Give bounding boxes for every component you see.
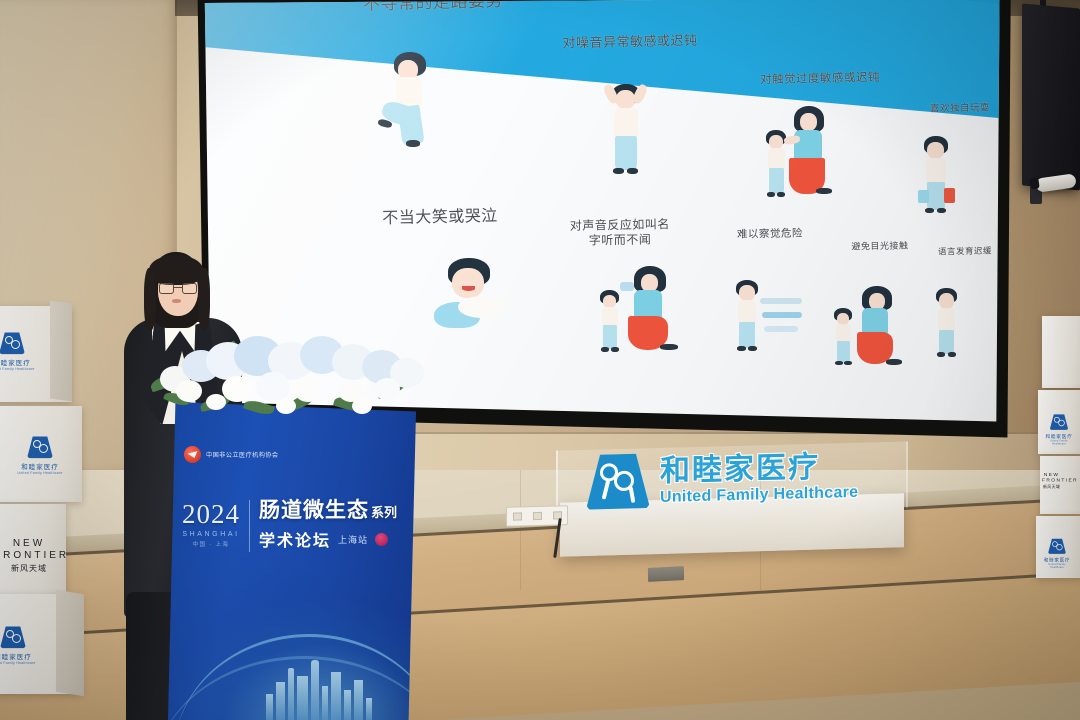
glasses-icon <box>159 283 197 294</box>
box-logo-cn: 和睦家医疗 <box>0 651 42 661</box>
united-family-healthcare-sign: 和睦家医疗 United Family Healthcare <box>586 442 886 516</box>
forum-banner: 2024 SHANGHAI 中国 · 上海 肠道微生态 系列 学术论坛 上海站 <box>182 497 404 552</box>
list-item: 和睦家医疗 United Family Healthcare <box>0 406 82 502</box>
slide-label-no-name-response: 对声音反应如叫名 字听而不闻 <box>540 217 700 250</box>
illustration-danger-unaware <box>730 280 806 364</box>
box-logo-en: United Family Healthcare <box>1042 563 1071 569</box>
illustration-laughing-crying-child <box>434 258 510 336</box>
floral-arrangement <box>148 332 430 424</box>
box-logo-cn: 和睦家医疗 <box>1042 556 1071 563</box>
podium: 中国非公立医疗机构协会 2024 SHANGHAI 中国 · 上海 肠道微生态 … <box>168 402 416 720</box>
forum-badge-icon <box>375 533 388 546</box>
box-nf-line2: FRONTIER <box>0 550 64 561</box>
forum-year: 2024 <box>182 501 240 528</box>
box-nf-line1: NEW <box>1042 472 1061 477</box>
box-nf-line3: 新风天域 <box>1042 484 1061 489</box>
list-item: NEW FRONTIER 新风天域 <box>0 504 66 594</box>
box-stack-right: 和睦家医疗 United Family Healthcare NEW FRONT… <box>1042 316 1080 556</box>
illustration-walking-child <box>378 52 440 160</box>
illustration-calling-name <box>598 264 694 356</box>
forum-subtitle: 学术论坛 <box>259 527 331 551</box>
box-nf-line1: NEW <box>0 538 64 549</box>
box-logo-en: United Family Healthcare <box>0 367 42 371</box>
list-item: 和睦家医疗 United Family Healthcare <box>1038 390 1080 454</box>
camera-lens-icon <box>1029 177 1039 189</box>
ufh-brand-en: United Family Healthcare <box>660 484 858 505</box>
slide-label-speech-delay: 语言发育迟缓 <box>915 245 1006 257</box>
box-nf-line3: 新风天域 <box>0 563 64 574</box>
box-nf-line2: FRONTIER <box>1042 478 1061 483</box>
box-logo-en: United Family Healthcare <box>0 661 42 665</box>
box-logo-en: United Family Healthcare <box>1044 439 1074 445</box>
forum-year-sub: SHANGHAI <box>182 531 240 538</box>
association-mark-icon <box>184 446 201 463</box>
illustration-speech-delay <box>926 288 974 368</box>
box-stack-left: 和睦家医疗 United Family Healthcare 和睦家医疗 Uni… <box>0 306 124 720</box>
box-logo-en: United Family Healthcare <box>10 471 70 475</box>
photo-scene: 不寻常的走路姿势 对噪音异常敏感或迟钝 对触觉过度敏感或迟钝 喜欢独自玩耍 不当… <box>0 0 1080 720</box>
box-logo-cn: 和睦家医疗 <box>10 461 70 471</box>
box-logo-cn: 和睦家医疗 <box>0 357 42 367</box>
list-item: NEW FRONTIER 新风天域 <box>1040 456 1080 514</box>
association-name: 中国非公立医疗机构协会 <box>206 450 278 459</box>
illustration-child-playing-alone <box>912 136 964 228</box>
association-logo: 中国非公立医疗机构协会 <box>184 446 278 463</box>
forum-location: 中国 · 上海 <box>182 540 240 548</box>
illustration-mother-child-touch <box>756 104 848 208</box>
forum-title-main: 肠道微生态 <box>259 499 369 522</box>
list-item: 和睦家医疗 United Family Healthcare <box>1036 516 1080 578</box>
floor-access-plate <box>648 566 684 582</box>
ufh-brand-cn: 和睦家医疗 <box>660 451 858 486</box>
ufh-logo-icon <box>586 452 650 512</box>
illustration-avoids-eye-contact <box>832 286 918 370</box>
list-item <box>1042 316 1080 388</box>
illustration-covering-ears <box>598 78 652 186</box>
slide-label-danger-unaware: 难以察觉危险 <box>705 227 835 242</box>
forum-city-tag: 上海站 <box>338 533 368 546</box>
forum-title-suffix: 系列 <box>371 506 397 520</box>
wall-loudspeaker <box>1022 3 1080 190</box>
box-logo-cn: 和睦家医疗 <box>1044 432 1074 439</box>
shanghai-skyline-graphic <box>256 658 396 720</box>
slide-label-inappropriate-laugh: 不当大笑或哭泣 <box>340 206 540 230</box>
slide-label-plays-alone: 喜欢独自玩耍 <box>890 103 1006 117</box>
